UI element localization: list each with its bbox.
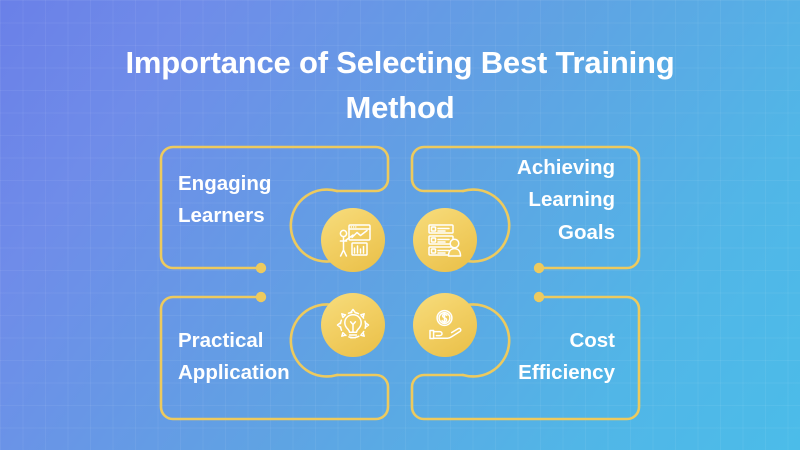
connector-dot bbox=[534, 263, 544, 273]
panel-label-practical-application: Practical Application bbox=[178, 325, 328, 390]
panel-label-achieving-learning-goals: Achieving Learning Goals bbox=[485, 152, 615, 249]
connector-dot bbox=[534, 292, 544, 302]
panel-label-engaging-learners: Engaging Learners bbox=[178, 168, 308, 233]
lightbulb-gear-icon[interactable] bbox=[321, 293, 385, 357]
connector-dot bbox=[256, 292, 266, 302]
panel-label-cost-efficiency: Cost Efficiency bbox=[470, 325, 615, 390]
hand-dollar-coin-icon[interactable] bbox=[413, 293, 477, 357]
connector-dot bbox=[256, 263, 266, 273]
infographic-slide: Importance of Selecting Best Training Me… bbox=[0, 0, 800, 450]
presentation-chart-icon[interactable] bbox=[321, 208, 385, 272]
checklist-person-icon[interactable] bbox=[413, 208, 477, 272]
page-title: Importance of Selecting Best Training Me… bbox=[0, 41, 800, 131]
